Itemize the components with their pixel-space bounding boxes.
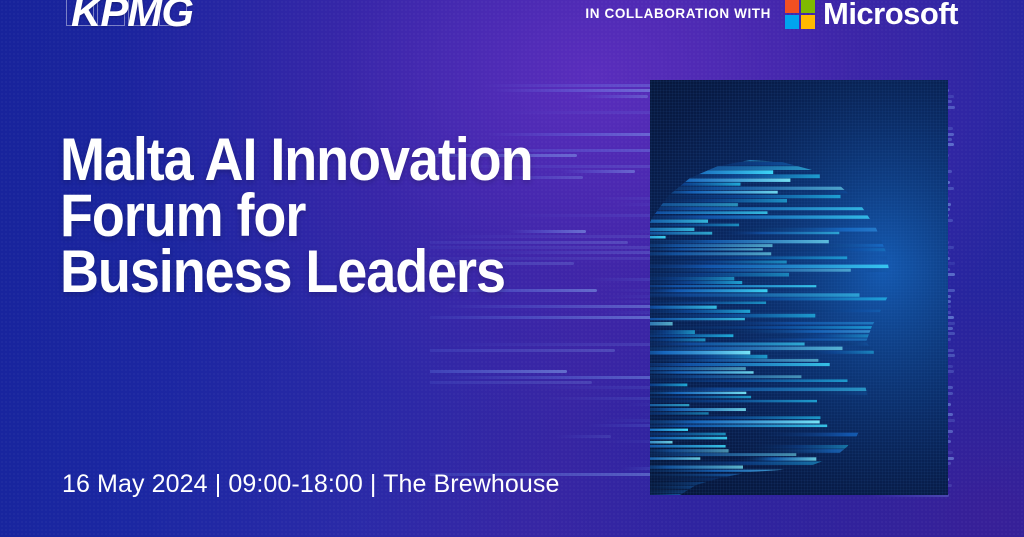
microsoft-square-green [801,0,815,13]
ai-head-artwork-panel [650,80,948,495]
ai-head-profile-graphic [650,80,948,495]
streak-line [443,305,661,308]
streak-line [560,170,635,173]
title-line-2: Forum for [60,188,564,244]
streak-line [430,349,615,352]
kpmg-logo: KPMG [48,0,216,46]
kpmg-wordmark: KPMG [48,0,216,36]
microsoft-square-red [785,0,799,13]
microsoft-logo: Microsoft [785,0,958,29]
streak-line [555,435,611,438]
microsoft-square-blue [785,15,799,29]
streak-line [579,95,648,98]
streak-line [430,381,592,384]
event-banner: KPMG IN COLLABORATION WITH Microsoft Mal… [0,0,1024,537]
collaboration-label: IN COLLABORATION WITH [585,6,771,21]
microsoft-wordmark: Microsoft [823,0,958,29]
microsoft-squares-icon [785,0,815,29]
partner-lockup: IN COLLABORATION WITH Microsoft [585,0,958,29]
streak-line [430,316,686,319]
title-line-3: Business Leaders [60,244,564,300]
page-title: Malta AI Innovation Forum for Business L… [60,132,564,299]
microsoft-square-yellow [801,15,815,29]
streak-line [493,89,663,92]
title-line-1: Malta AI Innovation [60,132,564,188]
event-details-line: 16 May 2024 | 09:00-18:00 | The Brewhous… [62,470,560,499]
streak-line [430,370,567,373]
